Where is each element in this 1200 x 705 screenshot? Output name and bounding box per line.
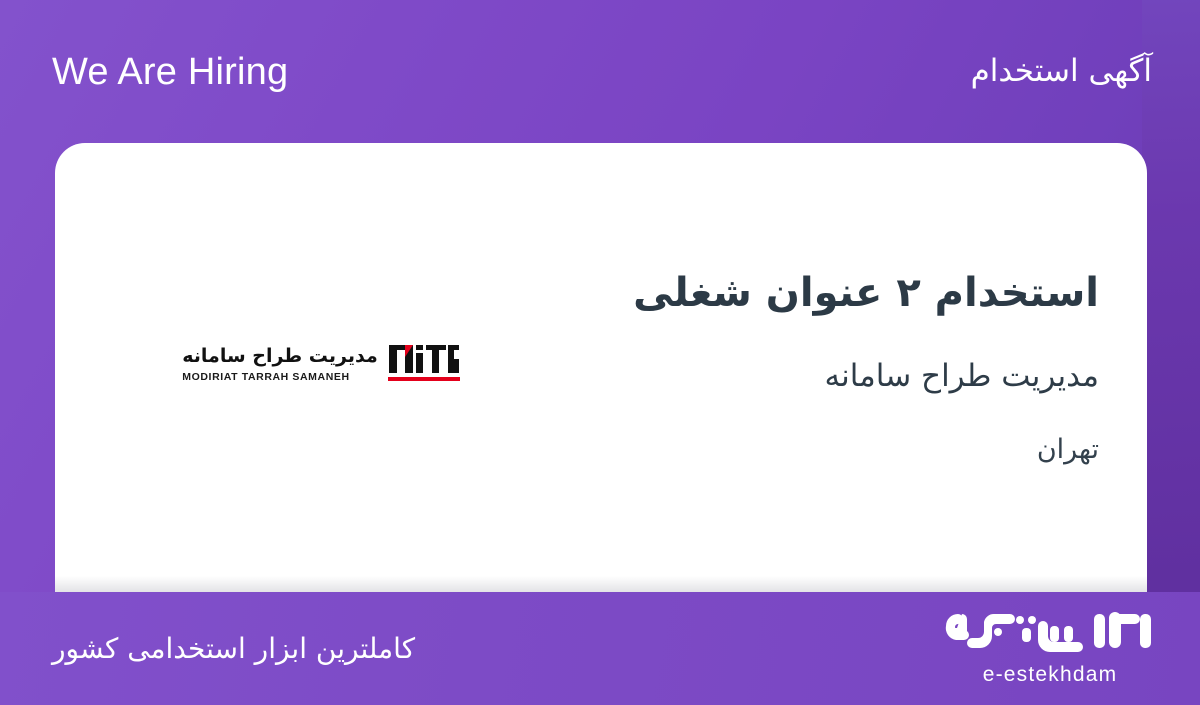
footer-tagline: کاملترین ابزار استخدامی کشور — [52, 631, 415, 666]
poster-header: We Are Hiring آگهی استخدام — [0, 0, 1200, 143]
hiring-headline: We Are Hiring — [52, 53, 288, 91]
e-estekhdam-logo-icon — [944, 612, 1156, 660]
job-ad-poster: We Are Hiring آگهی استخدام استخدام ۲ عنو… — [0, 0, 1200, 705]
ad-type-label: آگهی استخدام — [971, 56, 1152, 87]
logo-wordmark: مدیریت طراح سامانه MODIRIAT TARRAH SAMAN… — [182, 346, 377, 383]
mts-monogram-icon — [388, 341, 460, 389]
job-card: استخدام ۲ عنوان شغلی مدیریت طراح سامانه … — [55, 143, 1147, 592]
job-location: تهران — [587, 432, 1099, 467]
page-title: استخدام ۲ عنوان شغلی — [587, 268, 1099, 318]
job-details: استخدام ۲ عنوان شغلی مدیریت طراح سامانه … — [587, 268, 1147, 467]
e-estekhdam-brand: e-estekhdam — [944, 612, 1156, 685]
logo-lockup: مدیریت طراح سامانه MODIRIAT TARRAH SAMAN… — [182, 341, 459, 389]
company-name: مدیریت طراح سامانه — [587, 356, 1099, 396]
e-estekhdam-latin-label: e-estekhdam — [983, 664, 1118, 685]
logo-latin-name: MODIRIAT TARRAH SAMANEH — [182, 371, 349, 383]
poster-footer: کاملترین ابزار استخدامی کشور — [0, 592, 1200, 705]
logo-persian-name: مدیریت طراح سامانه — [182, 346, 377, 368]
company-logo: مدیریت طراح سامانه MODIRIAT TARRAH SAMAN… — [55, 341, 587, 395]
